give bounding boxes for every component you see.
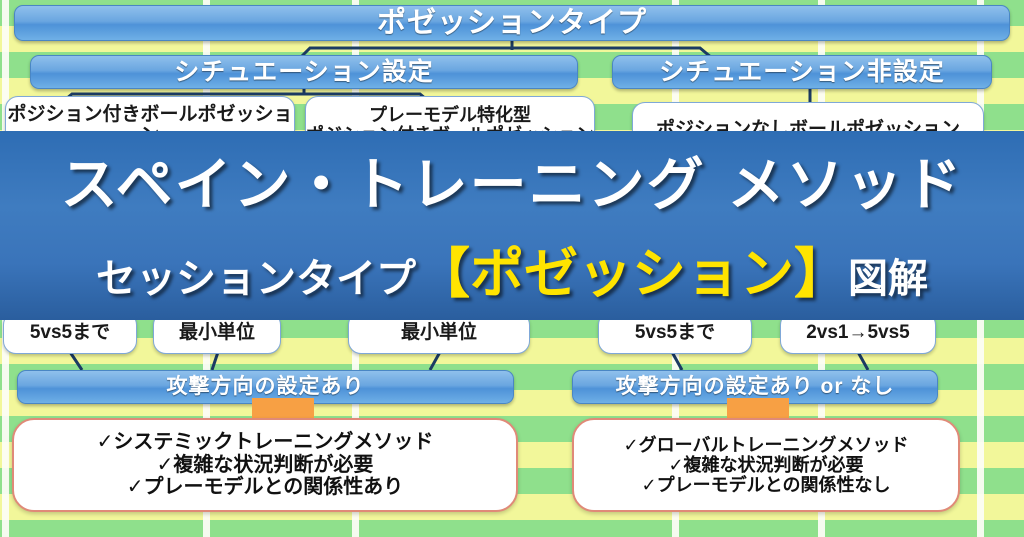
- arrow-shaft-right: [727, 398, 789, 420]
- result-left-line-1: ✓システミックトレーニングメソッド: [97, 431, 434, 453]
- result-right-line-1: ✓グローバルトレーニングメソッド: [624, 435, 909, 455]
- result-left-line-3: ✓プレーモデルとの関係性あり: [127, 476, 404, 498]
- result-box-systemic[interactable]: ✓システミックトレーニングメソッド ✓複雑な状況判断が必要 ✓プレーモデルとの関…: [12, 418, 518, 512]
- node-branch-situation-unset[interactable]: シチュエーション非設定: [612, 55, 992, 89]
- overlay-bracket-close: 】: [794, 242, 848, 305]
- overlay-title-main: スペイン・トレーニング メソッド: [0, 139, 1024, 221]
- overlay-sub-prefix: セッションタイプ: [96, 256, 416, 302]
- result-box-global[interactable]: ✓グローバルトレーニングメソッド ✓複雑な状況判断が必要 ✓プレーモデルとの関係…: [572, 418, 960, 512]
- overlay-bracket-open: 【: [416, 242, 470, 305]
- overlay-sub-highlight: ポゼッション: [470, 242, 794, 305]
- node-branch-situation-set[interactable]: シチュエーション設定: [30, 55, 578, 89]
- result-left-line-2: ✓複雑な状況判断が必要: [157, 454, 374, 476]
- overlay-title-sub: セッションタイプ【ポゼッション】図解: [0, 229, 1024, 308]
- result-right-line-2: ✓複雑な状況判断が必要: [668, 455, 863, 475]
- result-right-line-3: ✓プレーモデルとの関係性なし: [642, 475, 891, 495]
- arrow-shaft-left: [252, 398, 314, 420]
- node-root-possession-type[interactable]: ポゼッションタイプ: [14, 5, 1010, 41]
- diagram-canvas: ポゼッションタイプ シチュエーション設定 シチュエーション非設定 ポジション付き…: [0, 0, 1024, 537]
- overlay-sub-suffix: 図解: [848, 256, 928, 302]
- title-overlay-banner: スペイン・トレーニング メソッド セッションタイプ【ポゼッション】図解: [0, 131, 1024, 320]
